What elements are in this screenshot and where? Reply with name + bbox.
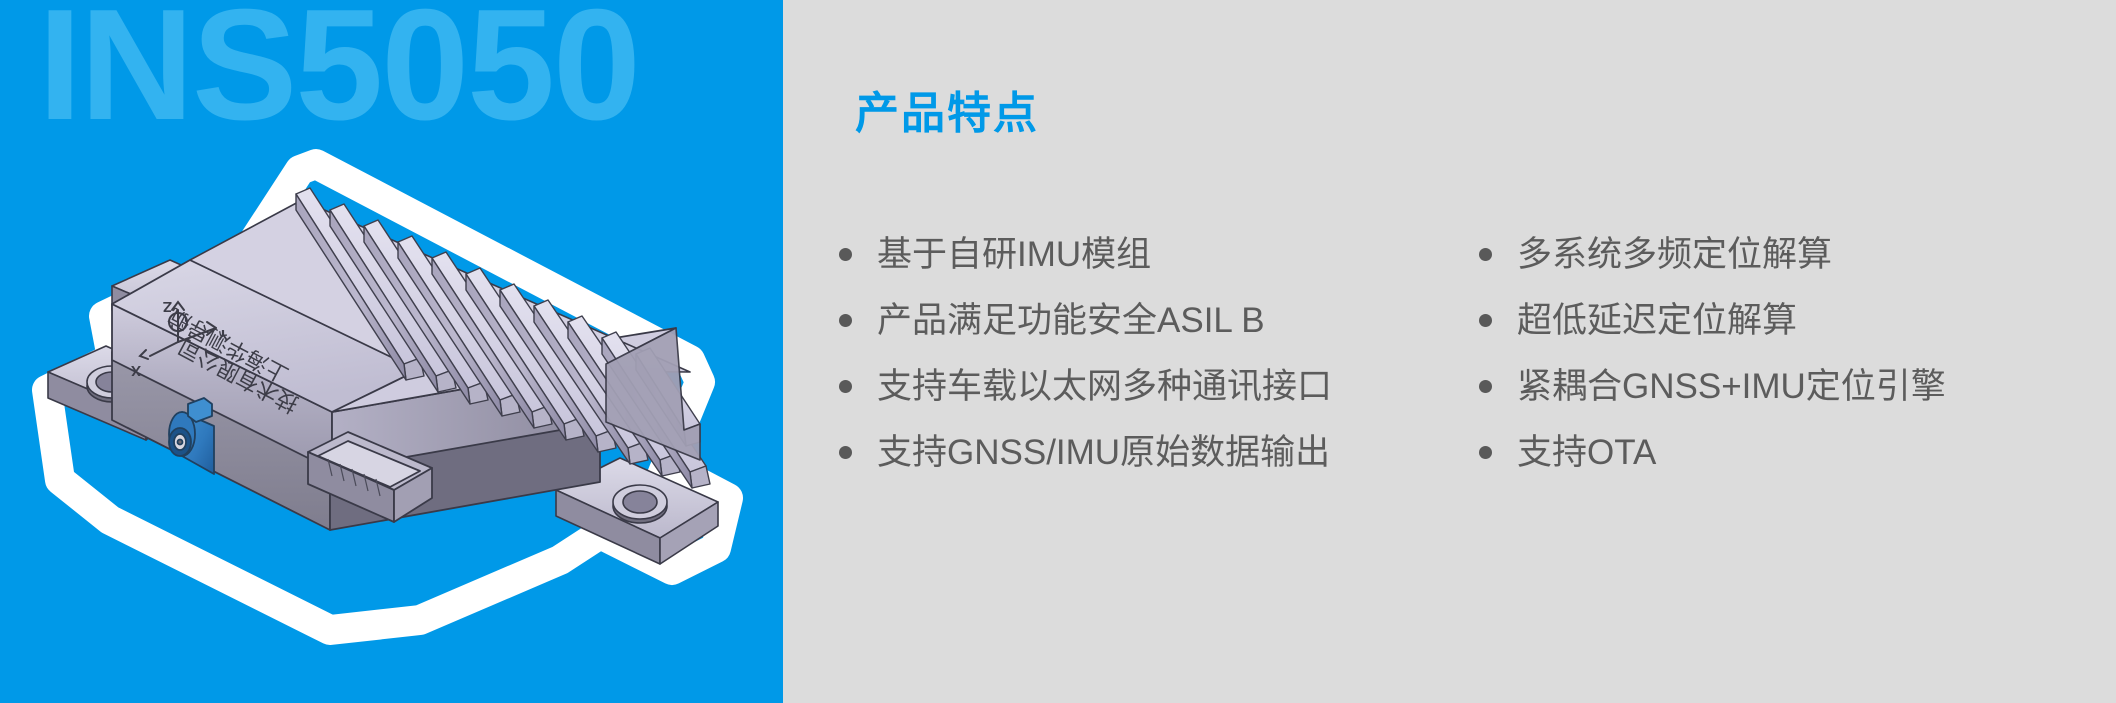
feature-item: 支持GNSS/IMU原始数据输出 bbox=[829, 426, 1469, 478]
features-column-right: 多系统多频定位解算 超低延迟定位解算 紧耦合GNSS+IMU定位引擎 支持OTA bbox=[1469, 228, 2109, 492]
bullet-dot-icon bbox=[839, 380, 852, 393]
feature-item-label: 多系统多频定位解算 bbox=[1517, 237, 1832, 272]
bullet-dot-icon bbox=[1479, 446, 1492, 459]
bullet-dot-icon bbox=[839, 248, 852, 261]
feature-item-label: 超低延迟定位解算 bbox=[1517, 303, 1797, 338]
bullet-dot-icon bbox=[839, 446, 852, 459]
feature-item: 多系统多频定位解算 bbox=[1469, 228, 2109, 280]
feature-item: 支持车载以太网多种通讯接口 bbox=[829, 360, 1469, 412]
feature-item-label: 支持OTA bbox=[1517, 435, 1656, 470]
product-image-panel: INS5050 bbox=[0, 0, 783, 703]
feature-item-label: 基于自研IMU模组 bbox=[877, 237, 1151, 272]
product-render-image: Z X Y 上海华测导航 技术有限公司 bbox=[0, 60, 783, 700]
features-title: 产品特点 bbox=[855, 90, 1039, 138]
feature-item: 超低延迟定位解算 bbox=[1469, 294, 2109, 346]
svg-text:X: X bbox=[131, 362, 141, 379]
bullet-dot-icon bbox=[839, 314, 852, 327]
bullet-dot-icon bbox=[1479, 380, 1492, 393]
feature-item: 紧耦合GNSS+IMU定位引擎 bbox=[1469, 360, 2109, 412]
features-column-left: 基于自研IMU模组 产品满足功能安全ASIL B 支持车载以太网多种通讯接口 支… bbox=[829, 228, 1469, 492]
bullet-dot-icon bbox=[1479, 248, 1492, 261]
feature-item: 产品满足功能安全ASIL B bbox=[829, 294, 1469, 346]
product-feature-slide: INS5050 bbox=[0, 0, 2116, 703]
feature-item-label: 产品满足功能安全ASIL B bbox=[877, 303, 1265, 338]
svg-text:Z: Z bbox=[163, 298, 172, 315]
feature-item: 支持OTA bbox=[1469, 426, 2109, 478]
features-bullet-columns: 基于自研IMU模组 产品满足功能安全ASIL B 支持车载以太网多种通讯接口 支… bbox=[829, 228, 2116, 492]
feature-item-label: 支持GNSS/IMU原始数据输出 bbox=[877, 435, 1330, 470]
feature-item-label: 紧耦合GNSS+IMU定位引擎 bbox=[1517, 369, 1946, 404]
feature-item: 基于自研IMU模组 bbox=[829, 228, 1469, 280]
features-panel: 产品特点 基于自研IMU模组 产品满足功能安全ASIL B 支持车载以太网多种通… bbox=[783, 0, 2116, 703]
bullet-dot-icon bbox=[1479, 314, 1492, 327]
feature-item-label: 支持车载以太网多种通讯接口 bbox=[877, 369, 1332, 404]
